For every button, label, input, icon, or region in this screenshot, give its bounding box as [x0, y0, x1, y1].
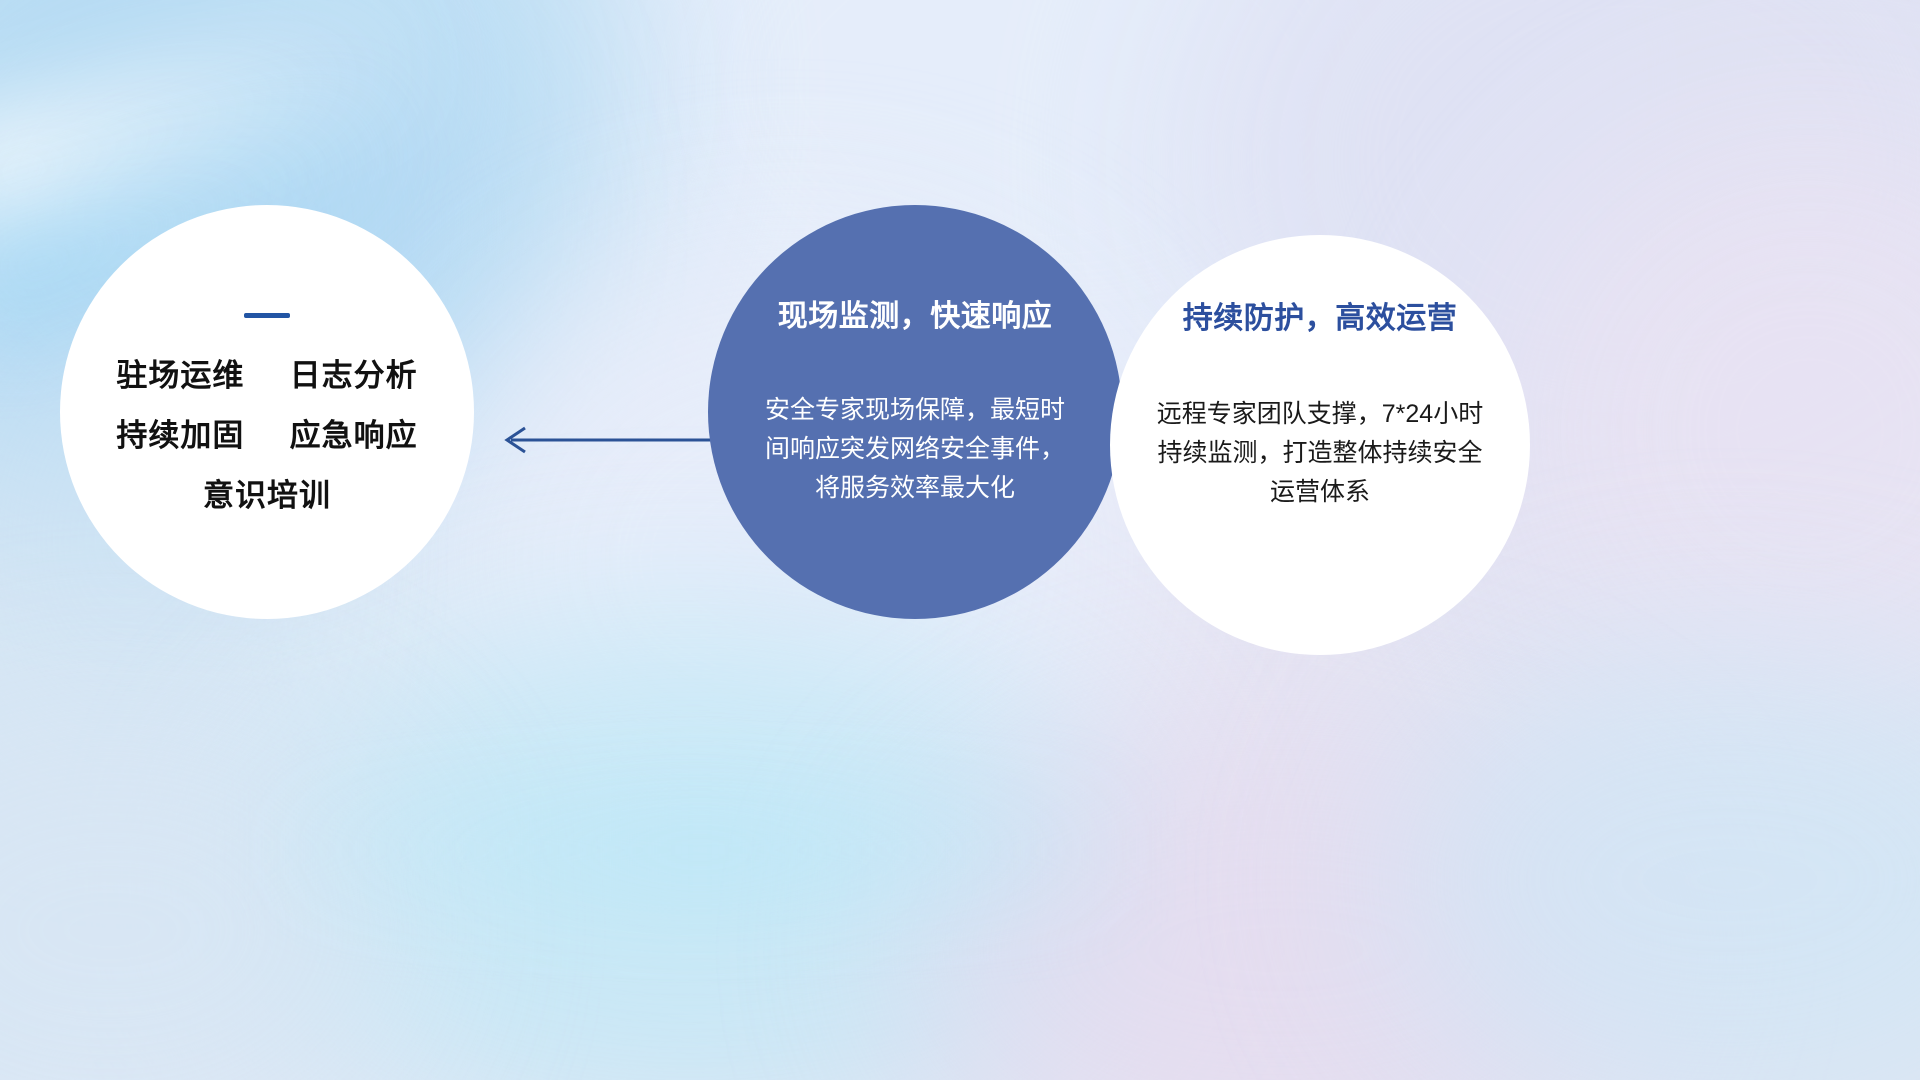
capability-row-2: 持续加固 应急响应: [116, 420, 417, 451]
capability-item-2: 日志分析: [290, 358, 418, 393]
feature-body-right: 远程专家团队支撑，7*24小时持续监测，打造整体持续安全运营体系: [1150, 395, 1490, 511]
capability-circle-left[interactable]: 驻场运维 日志分析 持续加固 应急响应 意识培训: [60, 205, 474, 619]
capability-item-5: 意识培训: [203, 478, 331, 513]
capability-row-3: 意识培训: [203, 480, 331, 511]
feature-circle-right[interactable]: 持续防护，高效运营 远程专家团队支撑，7*24小时持续监测，打造整体持续安全运营…: [1110, 235, 1530, 655]
arrow-left-icon: [495, 408, 715, 472]
capability-item-3: 持续加固: [116, 418, 244, 453]
feature-body-middle: 安全专家现场保障，最短时间响应突发网络安全事件，将服务效率最大化: [765, 391, 1065, 507]
feature-title-middle: 现场监测，快速响应: [778, 291, 1053, 335]
capability-row-1: 驻场运维 日志分析: [116, 360, 417, 391]
feature-title-right: 持续防护，高效运营: [1183, 293, 1458, 337]
feature-circle-middle[interactable]: 现场监测，快速响应 安全专家现场保障，最短时间响应突发网络安全事件，将服务效率最…: [708, 205, 1122, 619]
divider-dash: [244, 313, 290, 318]
capability-item-4: 应急响应: [290, 418, 418, 453]
capability-item-1: 驻场运维: [116, 358, 244, 393]
slide-canvas: 驻场运维 日志分析 持续加固 应急响应 意识培训 现场监测，快速响应 安全专家现…: [0, 0, 1920, 1080]
